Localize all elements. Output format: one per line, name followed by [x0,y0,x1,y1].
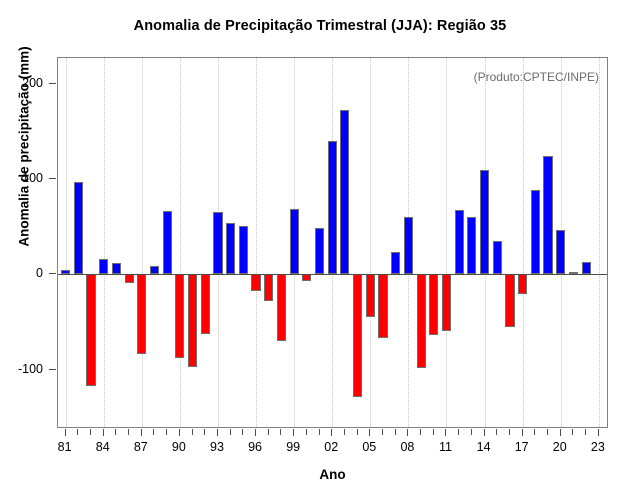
x-tick-mark [522,429,523,436]
y-tick-mark [49,369,56,370]
x-tick-mark [306,429,307,435]
bar-2010 [429,274,438,334]
bar-1991 [188,274,197,367]
x-tick-mark [255,429,256,436]
gridline-vertical [446,58,447,427]
x-tick-label: 11 [439,440,452,454]
bar-1984 [99,259,108,274]
y-axis-label: Anomalia de precipitação (mm) [17,0,32,312]
x-tick-mark [242,429,243,435]
bar-1988 [150,266,159,275]
bar-2020 [556,230,565,275]
bar-2004 [353,274,362,396]
bar-1983 [86,274,95,386]
x-tick-mark [471,429,472,435]
bar-2007 [391,252,400,275]
gridline-vertical [66,58,67,427]
x-tick-mark [192,429,193,435]
bar-2009 [417,274,426,367]
x-tick-mark [433,429,434,435]
y-tick-mark [49,83,56,84]
y-tick-label: -100 [0,362,43,376]
x-tick-mark [572,429,573,435]
bar-2018 [531,190,540,275]
x-tick-mark [319,429,320,435]
x-axis-label: Ano [57,467,608,482]
gridline-vertical [142,58,143,427]
x-tick-mark [407,429,408,436]
x-tick-mark [115,429,116,435]
x-tick-mark [534,429,535,435]
x-tick-mark [103,429,104,436]
x-tick-mark [560,429,561,436]
bar-2019 [543,156,552,274]
x-tick-mark [458,429,459,435]
gridline-vertical [599,58,600,427]
bar-2017 [518,274,527,293]
x-tick-mark [496,429,497,435]
bar-1999 [290,209,299,275]
x-tick-mark [331,429,332,436]
x-tick-mark [369,429,370,436]
bar-1995 [239,226,248,275]
bar-2015 [493,241,502,274]
plot-area: (Produto:CPTEC/INPE) [57,57,608,428]
x-tick-label: 93 [210,440,224,454]
x-tick-label: 23 [591,440,605,454]
x-tick-label: 20 [553,440,567,454]
bar-1992 [201,274,210,333]
bar-2006 [378,274,387,338]
gridline-vertical [370,58,371,427]
x-tick-mark [230,429,231,435]
chart-root: Anomalia de Precipitação Trimestral (JJA… [0,0,640,500]
x-tick-mark [141,429,142,436]
bar-1987 [137,274,146,353]
x-tick-mark [598,429,599,436]
bar-2003 [340,110,349,274]
x-tick-label: 14 [477,440,491,454]
x-tick-mark [445,429,446,436]
bar-2014 [480,170,489,275]
y-tick-mark [49,178,56,179]
x-tick-mark [420,429,421,435]
bar-2000 [302,274,311,281]
x-tick-mark [90,429,91,435]
plot-inner [58,58,607,427]
x-tick-label: 08 [400,440,414,454]
y-tick-mark [49,273,56,274]
bar-1997 [264,274,273,301]
x-tick-mark [77,429,78,435]
bar-1986 [125,274,134,283]
bar-2002 [328,141,337,275]
bar-1998 [277,274,286,341]
x-tick-label: 90 [172,440,186,454]
x-tick-mark [357,429,358,435]
x-tick-mark [65,429,66,436]
x-tick-label: 81 [58,440,72,454]
x-tick-mark [280,429,281,435]
bar-2013 [467,217,476,274]
bar-2016 [505,274,514,326]
x-tick-mark [395,429,396,435]
x-tick-label: 17 [515,440,529,454]
zero-baseline [58,274,607,275]
x-tick-mark [166,429,167,435]
x-tick-mark [484,429,485,436]
x-tick-label: 87 [134,440,148,454]
x-tick-mark [547,429,548,435]
x-tick-mark [585,429,586,435]
x-tick-label: 96 [248,440,262,454]
bar-2005 [366,274,375,317]
source-annotation: (Produto:CPTEC/INPE) [474,70,599,84]
gridline-vertical [256,58,257,427]
bar-1982 [74,182,83,275]
gridline-vertical [180,58,181,427]
bar-2008 [404,217,413,274]
bar-1996 [251,274,260,290]
gridline-vertical [523,58,524,427]
x-tick-mark [153,429,154,435]
x-tick-mark [382,429,383,435]
x-tick-mark [344,429,345,435]
x-tick-mark [509,429,510,435]
gridline-vertical [104,58,105,427]
x-tick-mark [128,429,129,435]
bar-2001 [315,228,324,275]
bar-2012 [455,210,464,275]
x-tick-label: 84 [96,440,110,454]
bar-1994 [226,223,235,275]
bar-2011 [442,274,451,330]
x-tick-label: 02 [324,440,338,454]
x-tick-mark [268,429,269,435]
bar-1990 [175,274,184,358]
bar-1993 [213,212,222,275]
x-tick-mark [204,429,205,435]
bar-1985 [112,263,121,274]
page-title: Anomalia de Precipitação Trimestral (JJA… [0,18,640,34]
x-tick-label: 05 [362,440,376,454]
bar-2022 [582,262,591,274]
x-tick-label: 99 [286,440,300,454]
x-tick-mark [179,429,180,436]
x-tick-mark [293,429,294,436]
x-tick-mark [217,429,218,436]
bar-1989 [163,211,172,275]
